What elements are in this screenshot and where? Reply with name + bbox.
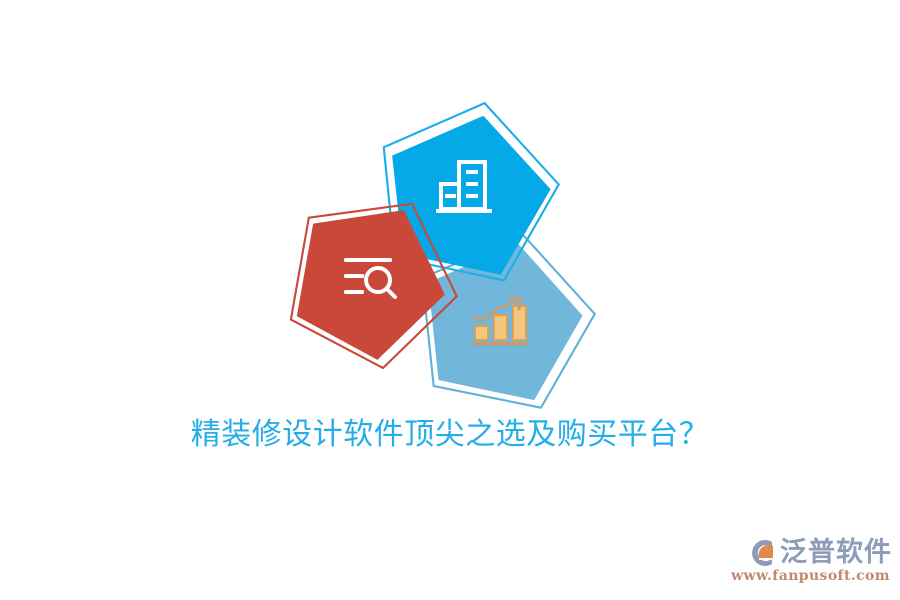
pentagon-cluster [0,0,900,420]
fanpu-circular-logo-icon [746,537,778,569]
hero-graphic [0,0,900,420]
brand-url: www.fanpusoft.com [712,568,892,584]
brand-watermark-row: 泛普软件 [712,536,892,570]
page-root: 精装修设计软件顶尖之选及购买平台？ 泛普软件 www.fanpusoft.com [0,0,900,600]
page-title: 精装修设计软件顶尖之选及购买平台？ [0,415,900,455]
brand-watermark: 泛普软件 www.fanpusoft.com [712,536,892,590]
brand-name: 泛普软件 [780,538,892,568]
